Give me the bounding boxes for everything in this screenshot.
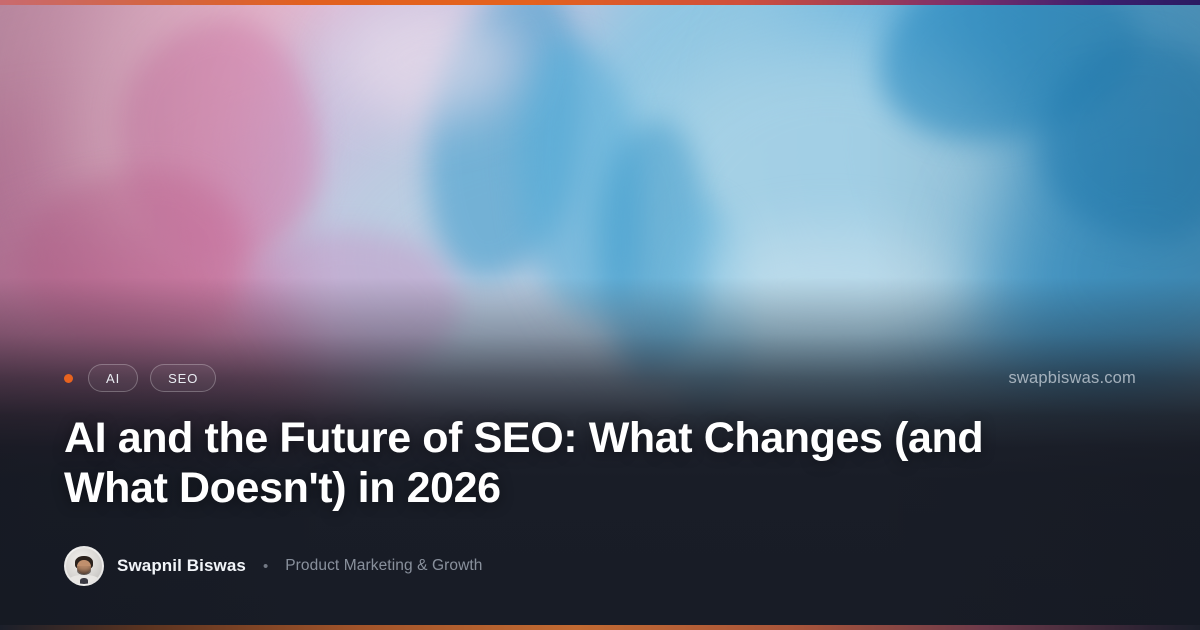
avatar-beard bbox=[77, 566, 91, 575]
tag-list: AI SEO bbox=[64, 364, 216, 392]
top-accent-rule bbox=[0, 0, 1200, 5]
author-separator: • bbox=[259, 558, 272, 575]
card-content: AI SEO swapbiswas.com AI and the Future … bbox=[64, 364, 1136, 586]
bottom-accent-rule bbox=[0, 625, 1200, 630]
tag-ai[interactable]: AI bbox=[88, 364, 138, 392]
author-name[interactable]: Swapnil Biswas bbox=[117, 556, 246, 576]
tag-seo[interactable]: SEO bbox=[150, 364, 216, 392]
accent-dot-icon bbox=[64, 374, 73, 383]
meta-row: AI SEO swapbiswas.com bbox=[64, 364, 1136, 392]
site-url[interactable]: swapbiswas.com bbox=[1008, 369, 1136, 388]
avatar-collar bbox=[80, 578, 89, 584]
author-role: Product Marketing & Growth bbox=[285, 557, 482, 575]
avatar bbox=[64, 546, 104, 586]
page-title: AI and the Future of SEO: What Changes (… bbox=[64, 414, 1044, 514]
social-share-card: AI SEO swapbiswas.com AI and the Future … bbox=[0, 0, 1200, 630]
author-row: Swapnil Biswas • Product Marketing & Gro… bbox=[64, 546, 1136, 586]
